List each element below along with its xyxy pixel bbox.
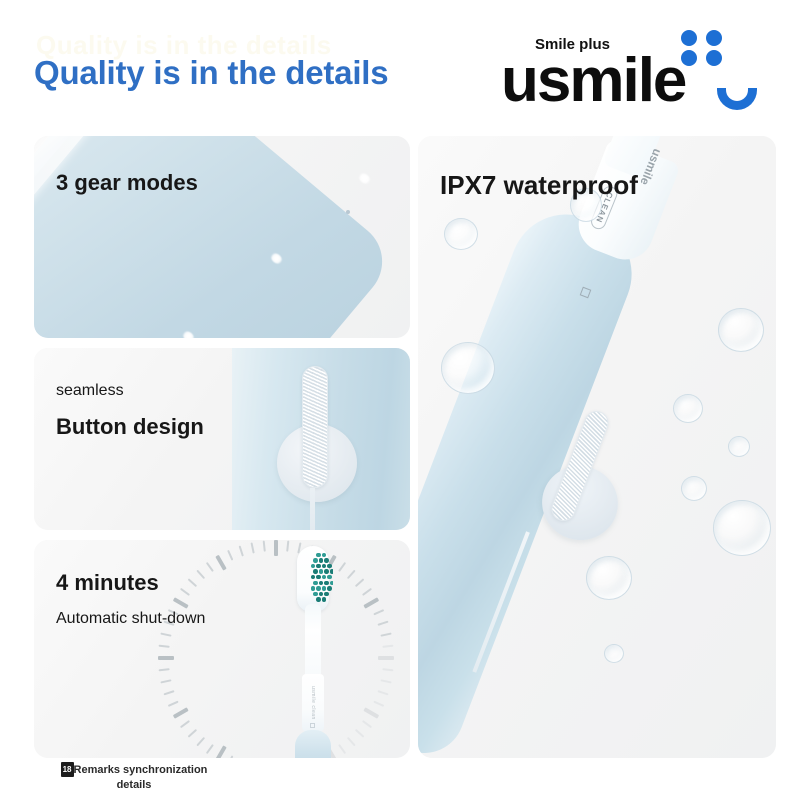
dial-tick <box>373 701 384 707</box>
button-stem <box>310 488 315 530</box>
dial-tick <box>159 668 170 671</box>
timer-title: 4 minutes <box>56 570 159 596</box>
bristle-dot <box>324 569 329 574</box>
feature-card-ipx7: CLEAN usmile IPX7 waterproof <box>418 136 776 758</box>
dial-tick <box>362 588 372 596</box>
dial-tick <box>377 690 388 695</box>
feature-card-button-design: seamless Button design <box>34 348 410 530</box>
bristle-dot <box>316 597 321 602</box>
dial-tick <box>160 679 171 683</box>
ipx7-artwork: CLEAN usmile <box>418 136 776 758</box>
dial-tick <box>250 542 254 553</box>
brush-head <box>297 546 329 612</box>
feature-card-gear-modes: 3 gear modes <box>34 136 410 338</box>
water-droplet <box>673 394 703 423</box>
bristle-dot <box>313 569 318 574</box>
bristle-dot <box>316 586 321 591</box>
bristle-dot <box>311 575 316 580</box>
footer-line-2: details <box>117 779 152 791</box>
dial-tick <box>382 668 393 671</box>
feature-card-timer: usmile clean 4 minutes Automatic shut-do… <box>34 540 410 758</box>
dial-tick <box>173 707 189 718</box>
handle-pinhole <box>346 210 350 214</box>
bristle-dot <box>319 558 324 563</box>
bristle-dot <box>324 592 329 597</box>
power-button-icon <box>302 366 328 488</box>
dial-tick <box>363 707 379 718</box>
bristle-dot <box>311 564 316 569</box>
dial-tick <box>227 550 233 561</box>
dial-tick <box>263 541 266 552</box>
timer-subtitle: Automatic shut-down <box>56 610 205 628</box>
page-title: Quality is in the details <box>34 54 388 92</box>
toothbrush-body <box>418 198 648 758</box>
bristle-dot <box>316 564 321 569</box>
bristle-dot <box>311 586 316 591</box>
bristle-dot <box>322 597 327 602</box>
led-indicator <box>357 171 373 186</box>
brush-base <box>295 730 331 758</box>
water-droplet <box>718 308 764 352</box>
gear-modes-artwork <box>34 136 410 338</box>
dial-tick <box>188 729 198 738</box>
bristle-dot <box>322 586 327 591</box>
bristles <box>309 551 333 603</box>
dial-tick <box>347 737 356 747</box>
dial-tick <box>347 570 356 580</box>
dial-tick <box>274 540 278 556</box>
brush-mark-label: usmile clean <box>309 686 316 720</box>
bristle-dot <box>316 575 321 580</box>
button-design-subtitle: seamless <box>56 382 124 400</box>
water-droplet <box>713 500 771 556</box>
dial-tick <box>380 679 391 683</box>
footer-badge: 18 <box>61 762 74 777</box>
footer-remarks: 18Remarks synchronization details <box>14 762 254 793</box>
header: Quality is in the details Quality is in … <box>0 0 800 128</box>
brush-head-assembly: usmile clean <box>289 546 335 758</box>
brush-neck <box>305 604 321 680</box>
bristle-dot <box>313 592 318 597</box>
water-droplet <box>728 436 750 457</box>
bristle-dot <box>313 581 318 586</box>
bristle-dot <box>313 558 318 563</box>
dial-tick <box>338 562 346 572</box>
bristle-dot <box>316 553 321 558</box>
dial-tick <box>362 720 372 728</box>
dial-tick <box>373 609 384 615</box>
dial-tick <box>206 744 214 754</box>
dial-tick <box>196 570 205 580</box>
dial-tick <box>160 632 171 636</box>
water-droplet <box>681 476 707 501</box>
dial-tick <box>382 645 393 648</box>
dial-tick <box>180 588 190 596</box>
logo-smile-arc-icon <box>717 88 757 110</box>
bristle-dot <box>327 575 332 580</box>
water-droplet <box>441 342 495 394</box>
dial-tick <box>363 597 379 608</box>
bristle-dot <box>322 575 327 580</box>
dial-tick <box>158 656 174 660</box>
dial-tick <box>355 578 365 587</box>
bristle-dot <box>322 564 327 569</box>
dial-tick <box>227 755 233 758</box>
dial-tick <box>159 645 170 648</box>
dial-tick <box>378 656 394 660</box>
dial-tick <box>338 744 346 754</box>
dial-tick <box>380 632 391 636</box>
dial-tick <box>239 545 244 556</box>
product-infographic: Quality is in the details Quality is in … <box>0 0 800 800</box>
ipx7-title: IPX7 waterproof <box>440 170 638 201</box>
logo-dots-icon <box>681 30 725 66</box>
dial-tick <box>163 690 174 695</box>
bristle-dot <box>327 586 332 591</box>
dial-tick <box>196 737 205 747</box>
dial-tick <box>206 562 214 572</box>
water-droplet <box>604 644 624 663</box>
footer-line-1: Remarks synchronization <box>74 764 208 776</box>
bristle-dot <box>319 581 324 586</box>
logo-wordmark: usmile <box>501 50 685 112</box>
brand-logo: Smile plus usmile <box>501 28 766 116</box>
dial-tick <box>180 720 190 728</box>
bristle-dot <box>319 592 324 597</box>
dial-tick <box>168 701 179 707</box>
bristle-dot <box>324 558 329 563</box>
dial-tick <box>215 555 226 571</box>
bristle-dot <box>330 581 333 586</box>
bristle-dot <box>330 569 333 574</box>
water-droplet <box>586 556 632 600</box>
gear-modes-title: 3 gear modes <box>56 170 198 196</box>
handle-body <box>34 136 398 338</box>
dial-tick <box>377 621 388 626</box>
dial-tick <box>215 745 226 758</box>
timer-dial-icon <box>156 540 396 758</box>
water-droplet <box>444 218 478 250</box>
bristle-dot <box>327 564 332 569</box>
bristle-dot <box>319 569 324 574</box>
dial-tick <box>173 597 189 608</box>
bristle-dot <box>322 553 327 558</box>
dial-tick <box>188 578 198 587</box>
dial-tick <box>355 729 365 738</box>
button-design-title: Button design <box>56 414 204 440</box>
brush-square-icon <box>310 723 315 728</box>
bristle-dot <box>324 581 329 586</box>
